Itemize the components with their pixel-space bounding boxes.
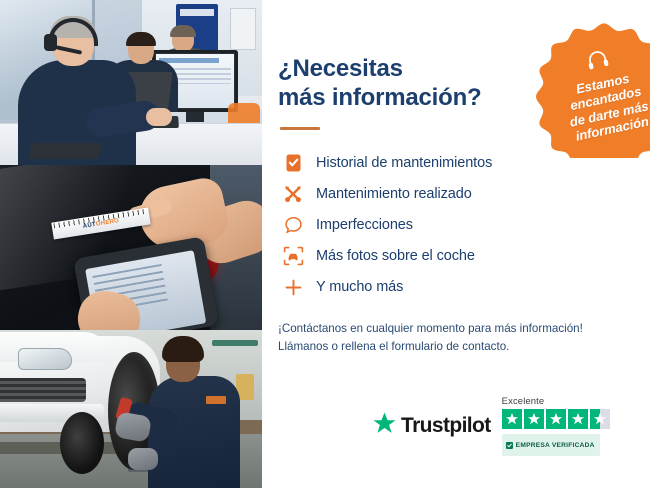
feature-item-maintenance-done: Mantenimiento realizado <box>278 179 650 210</box>
trustpilot-score-block: Excelente <box>502 396 610 456</box>
information-promo-card: AUTOHERO <box>0 0 650 488</box>
trustpilot-stars <box>502 409 610 429</box>
wall-poster-secondary <box>230 8 256 50</box>
contact-text: ¡Contáctanos en cualquier momento para m… <box>278 320 628 358</box>
star-icon <box>568 409 588 429</box>
trustpilot-rating[interactable]: Trustpilot Excelente <box>372 396 610 456</box>
car-photo-frame-icon <box>278 244 308 268</box>
mechanic-glove-lower <box>128 448 158 470</box>
feature-item-imperfections: Imperfecciones <box>278 210 650 241</box>
feature-label: Y mucho más <box>316 279 403 295</box>
star-icon <box>502 409 522 429</box>
car-grille <box>0 378 86 402</box>
verified-check-icon <box>506 436 513 454</box>
feature-label: Historial de mantenimientos <box>316 155 492 171</box>
checklist-document-icon <box>278 151 308 175</box>
monitor-stand <box>186 112 204 122</box>
headset-earcup <box>44 34 57 51</box>
trustpilot-logo[interactable]: Trustpilot <box>372 411 491 441</box>
feature-item-more-photos: Más fotos sobre el coche <box>278 241 650 272</box>
agent-two-hair <box>126 32 156 46</box>
car-headlight <box>18 348 72 370</box>
feature-list: Historial de mantenimientos M <box>278 148 650 303</box>
headline-line-1: ¿Necesitas <box>278 55 403 82</box>
call-center-agents-photo <box>0 0 262 165</box>
crossed-tools-icon <box>278 182 308 206</box>
content-pane: ¿Necesitas más información? Historial de… <box>262 0 650 488</box>
star-icon-half <box>590 409 610 429</box>
plus-icon <box>278 275 308 299</box>
mechanic-shirt-logo <box>206 396 226 404</box>
car-inspection-ruler-photo: AUTOHERO <box>0 165 262 330</box>
feature-label: Más fotos sobre el coche <box>316 248 475 264</box>
mechanic-wheel-check-photo <box>0 330 262 488</box>
desk-tablet <box>28 143 102 159</box>
car-rear-wheel <box>60 412 104 474</box>
verified-company-badge: EMPRESA VERIFICADA <box>502 434 600 456</box>
star-icon <box>546 409 566 429</box>
verified-company-label: EMPRESA VERIFICADA <box>516 442 595 449</box>
contact-line-1: ¡Contáctanos en cualquier momento para m… <box>278 320 628 339</box>
feature-label: Imperfecciones <box>316 217 413 233</box>
trustpilot-rating-label: Excelente <box>502 396 545 407</box>
contact-line-2: Llámanos o rellena el formulario de cont… <box>278 338 628 357</box>
garage-shelf <box>212 340 258 346</box>
headset-icon <box>585 47 612 76</box>
page-title: ¿Necesitas más información? <box>278 54 513 113</box>
speech-bubble-icon <box>278 213 308 237</box>
promo-starburst-badge: Estamos encantados de darte más informac… <box>536 22 650 158</box>
feature-label: Mantenimiento realizado <box>316 186 472 202</box>
trustpilot-star-icon <box>372 411 397 441</box>
headline-line-2: más información? <box>278 83 513 112</box>
badge-text: Estamos encantados de darte más informac… <box>562 68 650 145</box>
photo-column: AUTOHERO <box>0 0 262 488</box>
trustpilot-wordmark: Trustpilot <box>401 414 491 438</box>
star-icon <box>524 409 544 429</box>
title-underline-rule <box>280 127 320 130</box>
agent-one-hand <box>146 108 172 126</box>
feature-item-much-more: Y mucho más <box>278 272 650 303</box>
agent-three-hair <box>170 25 196 37</box>
